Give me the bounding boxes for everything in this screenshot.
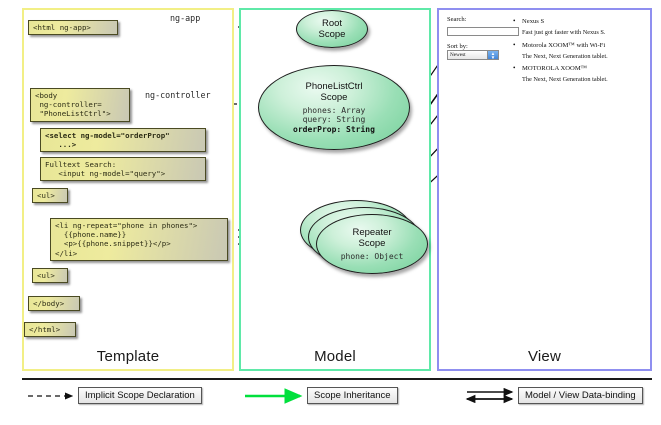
root-scope-title-line2: Scope bbox=[319, 29, 346, 40]
code-box-li-repeat: <li ng-repeat="phone in phones"> {{phone… bbox=[50, 218, 228, 261]
legend-item-scope-inheritance: Scope Inheritance bbox=[307, 387, 398, 404]
list-item[interactable]: MOTOROLA XOOM™ The Next, Next Generation… bbox=[513, 65, 645, 83]
list-item[interactable]: Nexus S Fast just got faster with Nexus … bbox=[513, 18, 645, 36]
code-box-select-tag: <select ng-model="orderProp" ...> bbox=[40, 128, 206, 152]
phone-name[interactable]: Motorola XOOM™ with Wi-Fi bbox=[513, 42, 645, 49]
search-input[interactable] bbox=[447, 27, 519, 36]
phone-snippet: The Next, Next Generation tablet. bbox=[513, 76, 645, 83]
repeater-scope-title-line1: Repeater bbox=[352, 227, 391, 238]
code-box-html-close: </html> bbox=[24, 322, 76, 337]
root-scope-title-line1: Root bbox=[319, 18, 346, 29]
phonelistctrl-prop-phones: phones: Array bbox=[293, 106, 375, 116]
template-column-title: Template bbox=[24, 348, 232, 365]
connector-label-ng-controller: ng-controller bbox=[145, 90, 211, 100]
legend-item-model-view-data-binding: Model / View Data-binding bbox=[518, 387, 643, 404]
phone-snippet: The Next, Next Generation tablet. bbox=[513, 53, 645, 60]
repeater-prop-phone: phone: Object bbox=[341, 252, 404, 262]
list-item[interactable]: Motorola XOOM™ with Wi-Fi The Next, Next… bbox=[513, 42, 645, 60]
legend-divider bbox=[22, 378, 652, 380]
phonelistctrl-scope-ellipse: PhoneListCtrl Scope phones: Array query:… bbox=[258, 65, 410, 150]
phone-name[interactable]: MOTOROLA XOOM™ bbox=[513, 65, 645, 72]
sort-by-select[interactable]: Newest ▲▼ bbox=[447, 50, 499, 60]
sort-by-selected-value: Newest bbox=[450, 52, 466, 58]
view-column: View Search: Sort by: Newest ▲▼ Nexus S … bbox=[437, 8, 652, 371]
phone-snippet: Fast just got faster with Nexus S. bbox=[513, 29, 645, 36]
phonelistctrl-scope-title-line1: PhoneListCtrl bbox=[305, 81, 362, 92]
phonelistctrl-scope-title-line2: Scope bbox=[305, 92, 362, 103]
model-column: Model bbox=[239, 8, 431, 371]
model-column-title: Model bbox=[241, 348, 429, 365]
stepper-icon: ▲▼ bbox=[487, 51, 498, 60]
code-box-body-tag: <body ng-controller= "PhoneListCtrl"> bbox=[30, 88, 130, 122]
view-browser-content: Search: Sort by: Newest ▲▼ Nexus S Fast … bbox=[447, 16, 645, 126]
view-column-title: View bbox=[439, 348, 650, 365]
repeater-scope-title-line2: Scope bbox=[352, 238, 391, 249]
phone-name[interactable]: Nexus S bbox=[513, 18, 645, 25]
root-scope-ellipse: Root Scope bbox=[296, 10, 368, 48]
code-box-ul-close: <ul> bbox=[32, 268, 68, 283]
connector-label-ng-app: ng-app bbox=[170, 13, 200, 23]
legend-item-implicit-scope-declaration: Implicit Scope Declaration bbox=[78, 387, 202, 404]
code-box-body-close: </body> bbox=[28, 296, 80, 311]
code-box-ul-open: <ul> bbox=[32, 188, 68, 203]
angularjs-architecture-diagram: Template <html ng-app> <body ng-controll… bbox=[0, 0, 661, 425]
phone-list: Nexus S Fast just got faster with Nexus … bbox=[513, 18, 645, 89]
phonelistctrl-prop-orderprop: orderProp: String bbox=[293, 125, 375, 135]
repeater-scope-ellipse: Repeater Scope phone: Object bbox=[316, 214, 428, 274]
phonelistctrl-prop-query: query: String bbox=[293, 115, 375, 125]
code-box-input-tag: Fulltext Search: <input ng-model="query"… bbox=[40, 157, 206, 181]
code-box-html-tag: <html ng-app> bbox=[28, 20, 118, 35]
